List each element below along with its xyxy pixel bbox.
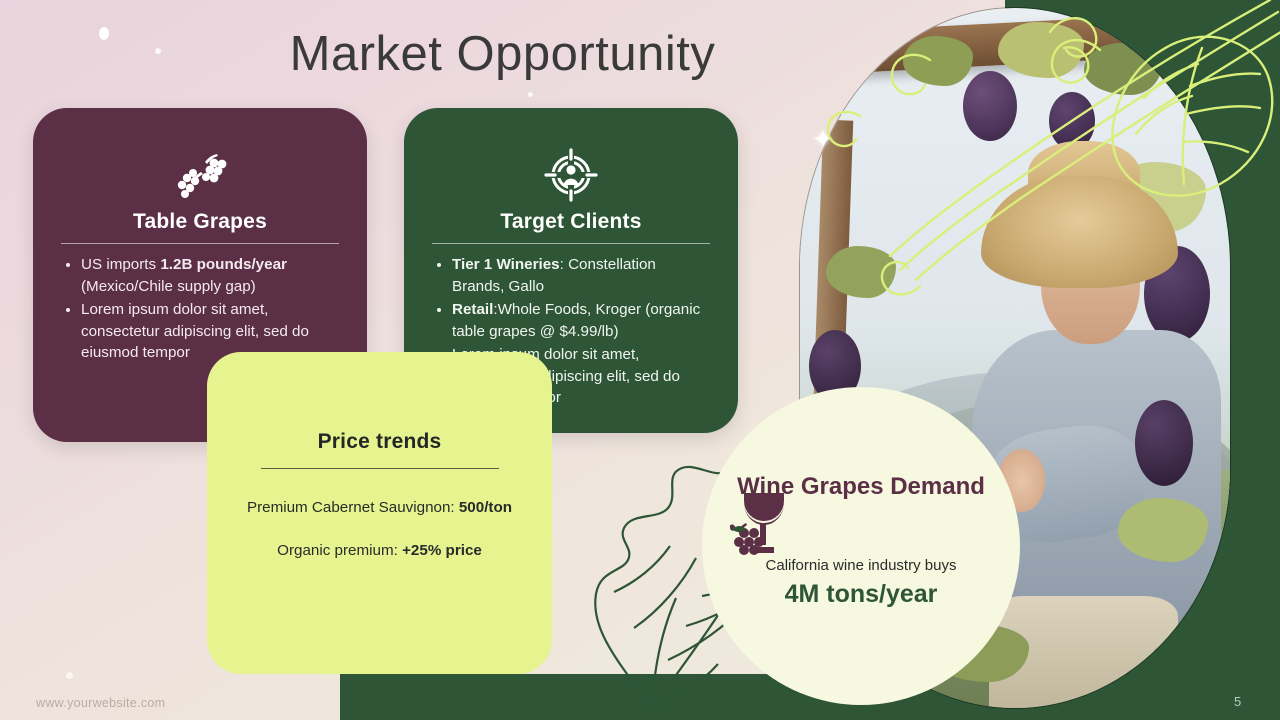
card-price-trends: Price trends Premium Cabernet Sauvignon:… <box>207 352 552 674</box>
bullet-rest: (Mexico/Chile supply gap) <box>81 278 256 295</box>
divider <box>261 468 499 469</box>
wine-demand-circle: Wine Grapes Demand California wine indus… <box>702 387 1020 705</box>
price-value: +25% price <box>402 542 482 559</box>
bullet-list: US imports 1.2B pounds/year (Mexico/Chil… <box>59 254 341 364</box>
price-label: Organic premium: <box>277 542 402 559</box>
list-item: Tier 1 Wineries: Constellation Brands, G… <box>452 254 708 297</box>
grapes-icon-svg <box>171 150 229 200</box>
bullet-lead: US imports <box>81 256 160 273</box>
price-value: 500/ton <box>459 499 512 516</box>
card-title: Target Clients <box>430 210 712 234</box>
target-person-icon <box>430 146 712 204</box>
sparkle-icon: ✦ <box>812 126 834 152</box>
divider <box>432 243 710 244</box>
bullet-bold: 1.2B pounds/year <box>160 256 287 273</box>
target-person-icon-svg <box>543 147 599 203</box>
slide: ✦ <box>0 0 1280 720</box>
page-number: 5 <box>1234 694 1241 709</box>
price-line: Premium Cabernet Sauvignon: 500/ton <box>233 499 526 516</box>
wine-glass-grapes-icon <box>730 487 792 559</box>
decorative-dot <box>528 92 533 97</box>
bullet-bold: Retail <box>452 301 493 318</box>
list-item: US imports 1.2B pounds/year (Mexico/Chil… <box>81 254 337 297</box>
circle-highlight: 4M tons/year <box>702 580 1020 609</box>
divider <box>61 243 339 244</box>
bullet-bold: Tier 1 Wineries <box>452 256 560 273</box>
price-line: Organic premium: +25% price <box>233 542 526 559</box>
page-title: Market Opportunity <box>0 26 1005 82</box>
card-title: Price trends <box>233 430 526 454</box>
card-title: Table Grapes <box>59 210 341 234</box>
list-item: Retail:Whole Foods, Kroger (organic tabl… <box>452 299 708 342</box>
footer-website[interactable]: www.yourwebsite.com <box>36 696 165 710</box>
grapes-icon <box>59 146 341 204</box>
price-label: Premium Cabernet Sauvignon: <box>247 499 459 516</box>
decorative-dot <box>66 672 73 679</box>
circle-subtitle: California wine industry buys <box>702 557 1020 574</box>
